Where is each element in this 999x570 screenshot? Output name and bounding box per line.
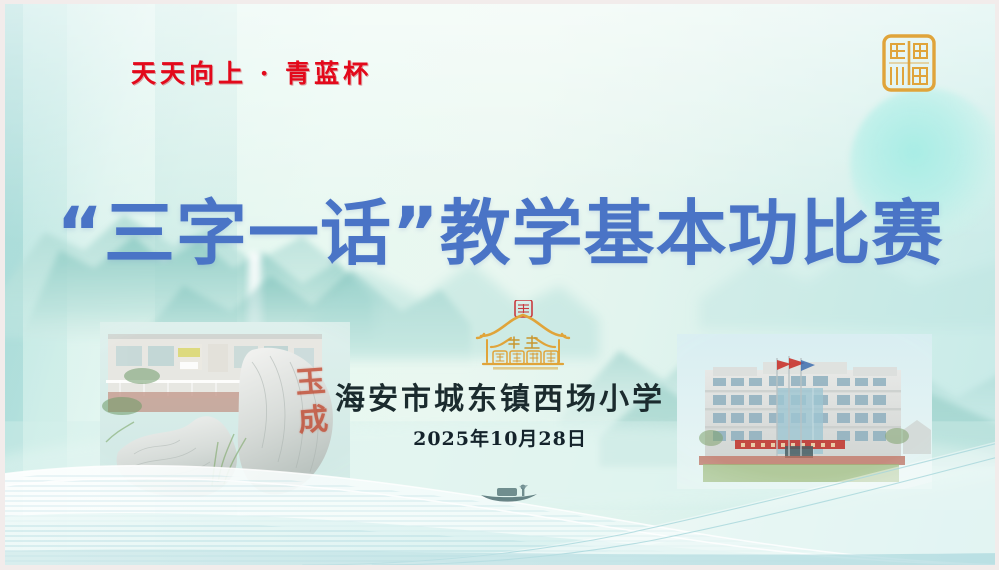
pavilion-emblem [471,300,575,376]
corner-seal-icon [879,32,939,94]
river-boat-icon [475,482,545,508]
poster-canvas: 玉 成 [0,0,999,570]
page-title: “三字一话”教学基本功比赛 [5,198,995,269]
kicker-text: 天天向上 · 青蓝杯 [131,54,372,90]
event-date: 2025年10月28日 [5,424,995,451]
school-name: 海安市城东镇西场小学 [5,374,995,418]
